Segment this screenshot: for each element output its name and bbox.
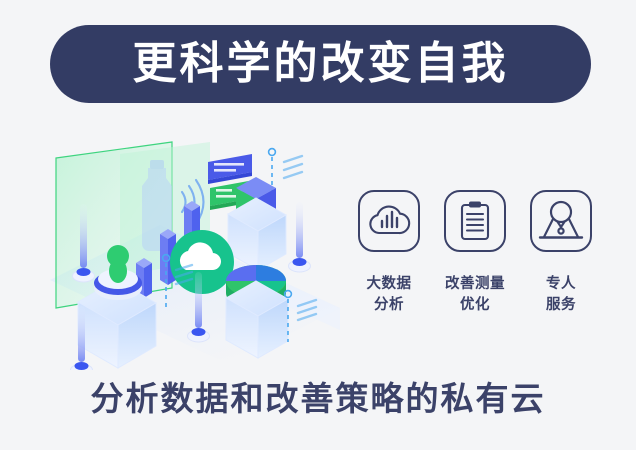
feature-label-big-data: 大数据 分析 — [367, 274, 412, 316]
page-caption: 分析数据和改善策略的私有云 — [0, 382, 636, 415]
feature-label-support: 专人 服务 — [546, 274, 576, 316]
isometric-illustration — [40, 130, 360, 370]
feature-item-big-data[interactable]: 大数据 分析 — [352, 190, 426, 316]
clipboard-icon-box — [444, 190, 506, 252]
feature-list: 大数据 分析 改善测量 优化 — [352, 190, 598, 335]
feature-label-line2: 优化 — [445, 295, 505, 316]
page-title: 更科学的改变自我 — [133, 42, 509, 86]
feature-label-line1: 大数据 — [367, 274, 412, 295]
support-person-icon-box — [530, 190, 592, 252]
feature-label-measurement: 改善测量 优化 — [445, 274, 505, 316]
tag-blue — [208, 154, 252, 184]
glass-cube-right — [228, 198, 286, 270]
feature-label-line2: 服务 — [546, 295, 576, 316]
support-person-icon — [538, 199, 584, 243]
feature-item-measurement[interactable]: 改善测量 优化 — [438, 190, 512, 316]
feature-label-line2: 分析 — [367, 295, 412, 316]
cloud-bar-chart-icon — [367, 201, 411, 241]
cloud-bar-chart-icon-box — [358, 190, 420, 252]
feature-label-line1: 专人 — [546, 274, 576, 295]
clipboard-icon — [456, 199, 494, 243]
poster-canvas: 更科学的改变自我 — [0, 0, 636, 450]
feature-item-support[interactable]: 专人 服务 — [524, 190, 598, 316]
pin-marker-d — [289, 202, 311, 272]
feature-label-line1: 改善测量 — [445, 274, 505, 295]
title-banner: 更科学的改变自我 — [50, 25, 591, 103]
